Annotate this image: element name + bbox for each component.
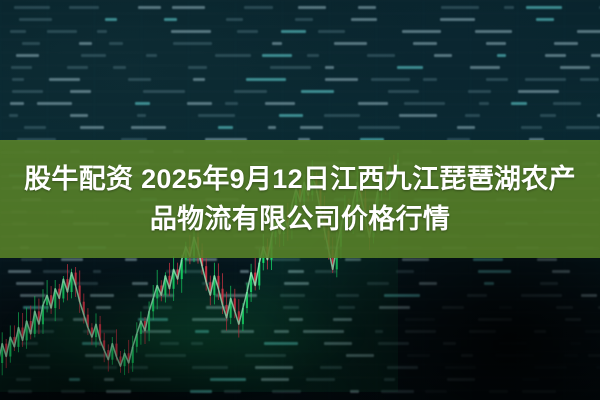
screenshot-root: 股牛配资 2025年9月12日江西九江琵琶湖农产 品物流有限公司价格行情 xyxy=(0,0,600,400)
title-line-1: 股牛配资 2025年9月12日江西九江琵琶湖农产 xyxy=(24,158,576,200)
page-title: 股牛配资 2025年9月12日江西九江琵琶湖农产 品物流有限公司价格行情 xyxy=(0,140,600,258)
title-line-2: 品物流有限公司价格行情 xyxy=(150,198,450,240)
title-banner: 股牛配资 2025年9月12日江西九江琵琶湖农产 品物流有限公司价格行情 xyxy=(0,140,600,258)
